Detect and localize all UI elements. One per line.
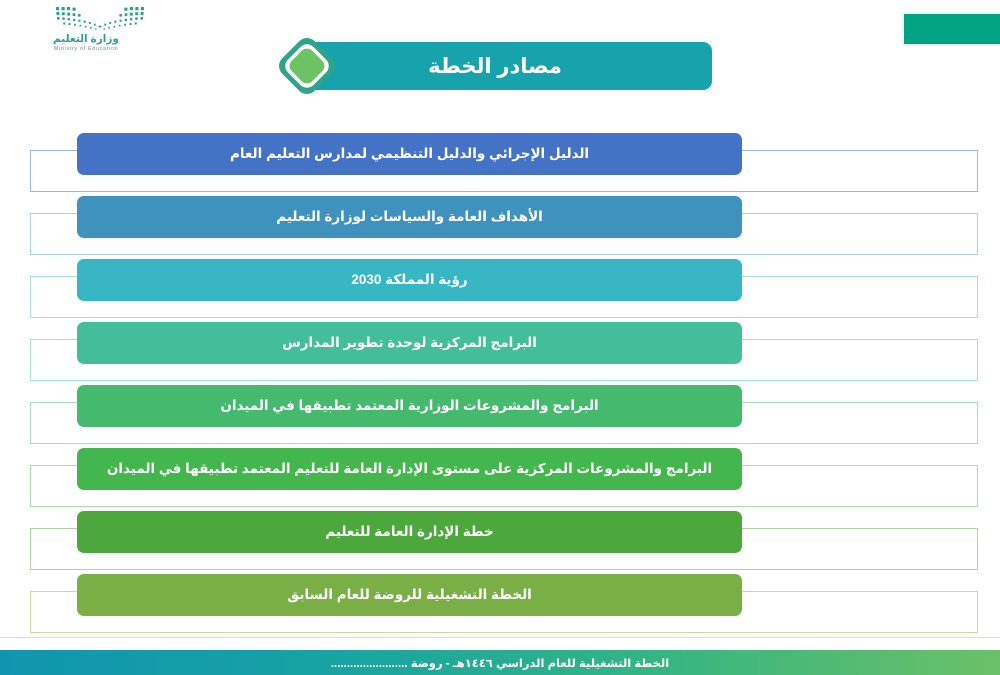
footer-text: الخطة التشغيلية للعام الدراسي ١٤٤٦هـ - ر… bbox=[0, 650, 1000, 675]
row-bar[interactable]: خطة الإدارة العامة للتعليم bbox=[77, 511, 742, 553]
row-bar[interactable]: البرامج والمشروعات الوزارية المعتمد تطبي… bbox=[77, 385, 742, 427]
row-label: خطة الإدارة العامة للتعليم bbox=[311, 524, 508, 540]
row-bar[interactable]: رؤية المملكة 2030 bbox=[77, 259, 742, 301]
row-label: الخطة التشغيلية للروضة للعام السابق bbox=[273, 587, 546, 603]
footer-divider bbox=[0, 637, 1000, 638]
plan-sources-list: الدليل الإجرائي والدليل التنظيمي لمدارس … bbox=[0, 0, 1000, 675]
row-bar[interactable]: الدليل الإجرائي والدليل التنظيمي لمدارس … bbox=[77, 133, 742, 175]
slide-canvas: وزارة التعليم Ministry of Education مصاد… bbox=[0, 0, 1000, 675]
list-item[interactable]: الخطة التشغيلية للروضة للعام السابق bbox=[0, 574, 1000, 640]
list-item[interactable]: البرامج المركزية لوحدة تطوير المدارس bbox=[0, 322, 1000, 388]
row-bar[interactable]: الخطة التشغيلية للروضة للعام السابق bbox=[77, 574, 742, 616]
row-bar[interactable]: البرامج المركزية لوحدة تطوير المدارس bbox=[77, 322, 742, 364]
row-label: رؤية المملكة 2030 bbox=[337, 272, 481, 288]
row-label: البرامج والمشروعات المركزية على مستوى ال… bbox=[93, 461, 726, 477]
row-bar[interactable]: البرامج والمشروعات المركزية على مستوى ال… bbox=[77, 448, 742, 490]
row-label: الأهداف العامة والسياسات لوزارة التعليم bbox=[262, 209, 557, 225]
row-label: الدليل الإجرائي والدليل التنظيمي لمدارس … bbox=[216, 146, 603, 162]
list-item[interactable]: خطة الإدارة العامة للتعليم bbox=[0, 511, 1000, 577]
row-label: البرامج والمشروعات الوزارية المعتمد تطبي… bbox=[206, 398, 612, 414]
row-bar[interactable]: الأهداف العامة والسياسات لوزارة التعليم bbox=[77, 196, 742, 238]
list-item[interactable]: البرامج والمشروعات المركزية على مستوى ال… bbox=[0, 448, 1000, 514]
list-item[interactable]: الأهداف العامة والسياسات لوزارة التعليم bbox=[0, 196, 1000, 262]
footer-bar: الخطة التشغيلية للعام الدراسي ١٤٤٦هـ - ر… bbox=[0, 650, 1000, 675]
list-item[interactable]: رؤية المملكة 2030 bbox=[0, 259, 1000, 325]
list-item[interactable]: الدليل الإجرائي والدليل التنظيمي لمدارس … bbox=[0, 133, 1000, 199]
list-item[interactable]: البرامج والمشروعات الوزارية المعتمد تطبي… bbox=[0, 385, 1000, 451]
row-label: البرامج المركزية لوحدة تطوير المدارس bbox=[268, 335, 551, 351]
